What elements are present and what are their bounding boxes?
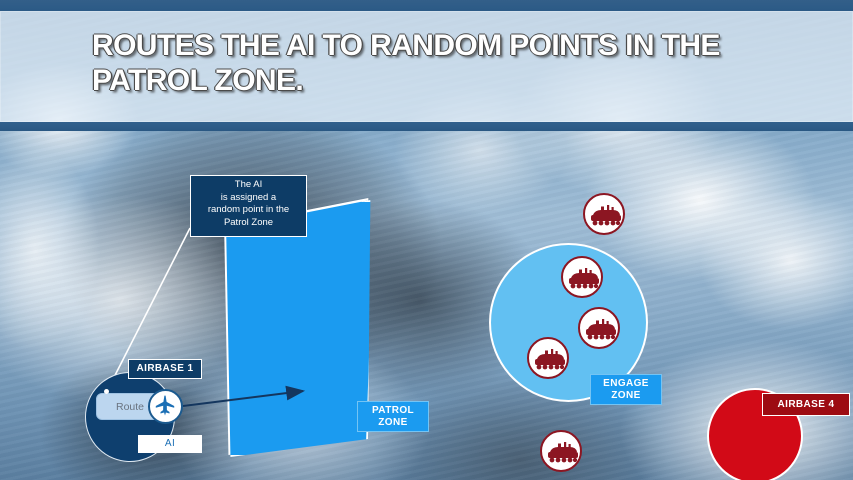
enemy-unit-marker-tank-4[interactable] [527,337,569,379]
ai-aircraft-marker[interactable] [148,389,183,424]
label-airbase-4[interactable]: AIRBASE 4 [762,393,850,416]
label-engage-zone[interactable]: ENGAGE ZONE [590,374,662,405]
label-engage-zone-line-2: ZONE [611,390,640,402]
label-ai-text: AI [165,438,175,450]
callout-line-4: Patrol Zone [191,217,306,230]
label-patrol-zone-line-2: ZONE [378,417,407,429]
label-airbase-1[interactable]: AIRBASE 1 [128,359,202,379]
label-patrol-zone-line-1: PATROL [372,405,414,417]
tank-icon [589,204,623,228]
route-anchor-dot [104,389,109,394]
enemy-unit-marker-tank-2[interactable] [561,256,603,298]
tank-icon [533,348,567,372]
label-ai[interactable]: AI [138,435,202,453]
tank-icon [584,318,618,342]
callout-line-1: The AI [191,179,306,192]
label-patrol-zone[interactable]: PATROL ZONE [357,401,429,432]
slide-canvas: ROUTES THE AI TO RANDOM POINTS IN THE PA… [0,0,853,480]
label-airbase-1-text: AIRBASE 1 [137,363,194,375]
callout-line-3: random point in the [191,204,306,217]
tank-icon [546,441,580,465]
enemy-unit-marker-tank-3[interactable] [578,307,620,349]
label-airbase-4-text: AIRBASE 4 [778,399,835,411]
callout-line-2: is assigned a [191,192,306,205]
callout-box: The AI is assigned a random point in the… [190,175,307,237]
enemy-unit-marker-tank-5[interactable] [540,430,582,472]
label-engage-zone-line-1: ENGAGE [603,378,649,390]
fighter-jet-icon [153,394,177,418]
enemy-unit-marker-tank-1[interactable] [583,193,625,235]
tank-icon [567,267,601,291]
